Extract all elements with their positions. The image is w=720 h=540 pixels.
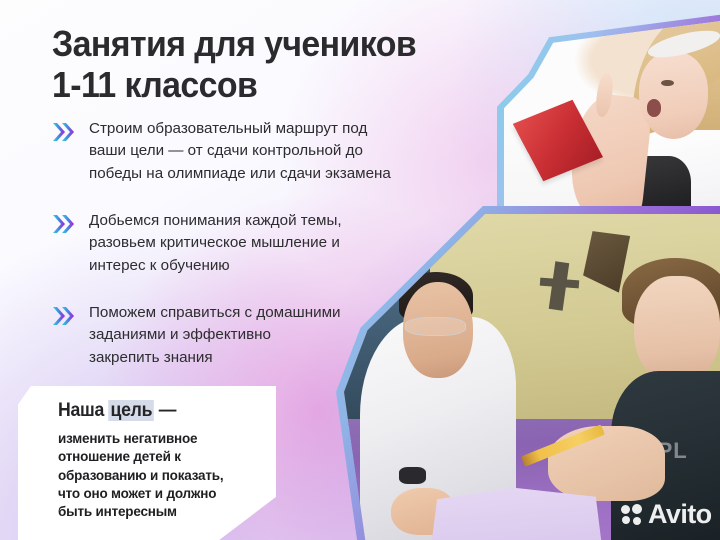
goal-title-highlight: цель: [109, 400, 154, 421]
goal-card: Наша цель — изменить негативное отношени…: [18, 386, 276, 540]
avito-dots-logo: [621, 504, 643, 526]
benefits-list: Строим образовательный маршрут под ваши …: [52, 118, 462, 394]
goal-card-body: изменить негативное отношение детей к об…: [58, 430, 261, 522]
list-item: Поможем справиться с домашними заданиями…: [52, 302, 462, 369]
student-face: [634, 276, 720, 385]
double-chevron-icon: [52, 121, 76, 143]
girl-face: [639, 52, 708, 139]
double-chevron-icon: [52, 305, 76, 327]
tutor-watch: [399, 467, 426, 484]
double-chevron-icon: [52, 213, 76, 235]
avito-watermark: Avito: [621, 501, 712, 528]
avito-brand-label: Avito: [648, 501, 712, 528]
list-item-label: Добьемся понимания каждой темы, разовьем…: [89, 210, 342, 277]
promo-banner: PL Занятия для учеников 1-11 классов: [0, 0, 720, 540]
list-item: Добьемся понимания каждой темы, разовьем…: [52, 210, 462, 277]
list-item: Строим образовательный маршрут под ваши …: [52, 118, 462, 185]
list-item-label: Строим образовательный маршрут под ваши …: [89, 118, 391, 185]
goal-card-title: Наша цель —: [58, 400, 176, 422]
student-tshirt-print: PL: [658, 440, 720, 484]
list-item-label: Поможем справиться с домашними заданиями…: [89, 302, 341, 369]
goal-title-prefix: Наша: [58, 400, 109, 421]
goal-title-suffix: —: [154, 400, 176, 421]
page-title: Занятия для учеников 1-11 классов: [52, 24, 447, 105]
